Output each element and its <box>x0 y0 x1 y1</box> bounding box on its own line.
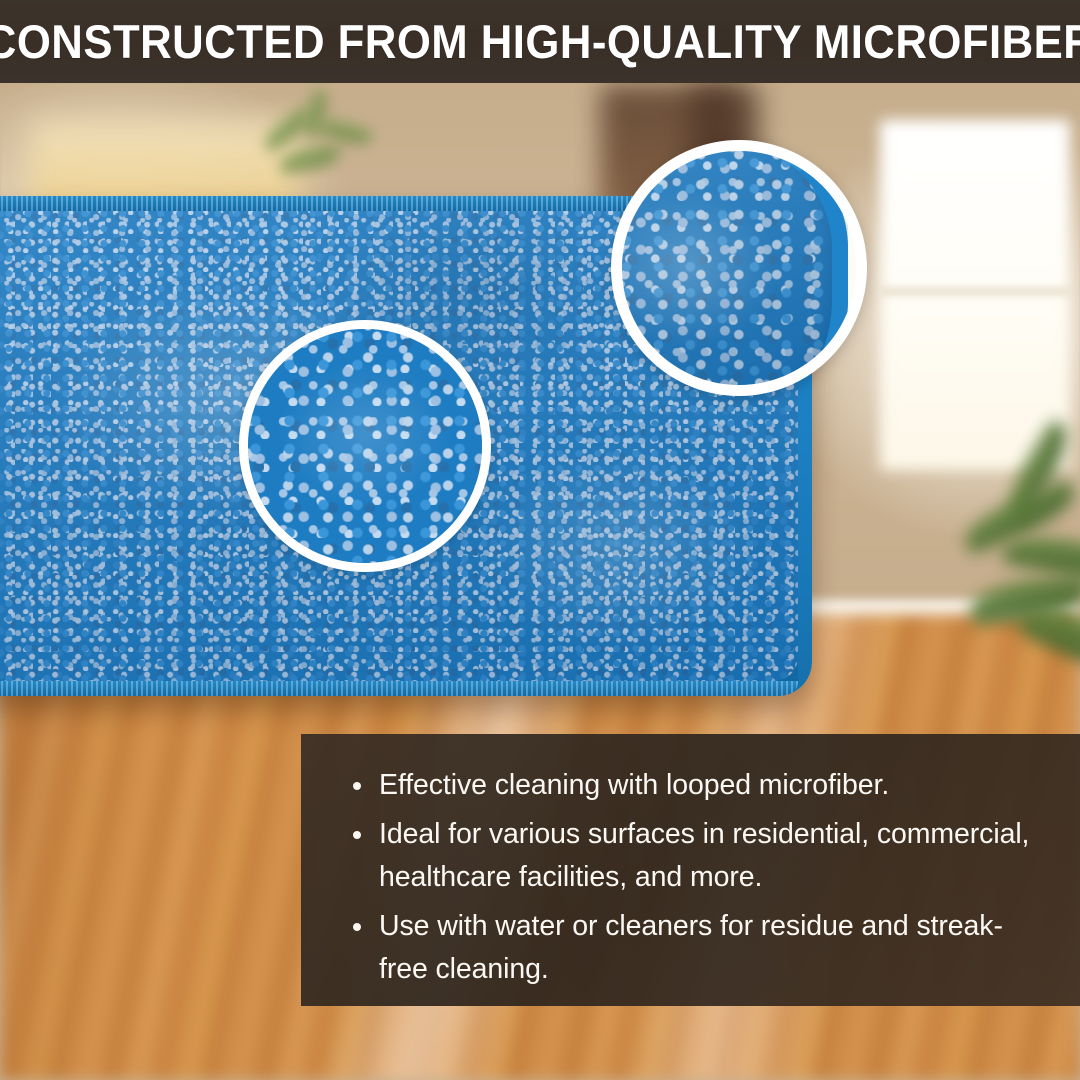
list-item: Effective cleaning with looped microfibe… <box>353 764 1046 807</box>
texture-closeup-content <box>248 329 482 563</box>
right-window <box>880 120 1070 470</box>
stitched-edge-bottom <box>0 681 798 696</box>
texture-closeup-shading <box>248 329 482 563</box>
background-plant-left <box>250 90 380 200</box>
list-item: Use with water or cleaners for residue a… <box>353 905 1046 991</box>
list-item: Ideal for various surfaces in residentia… <box>353 813 1046 899</box>
feature-bullet-list: Effective cleaning with looped microfibe… <box>353 764 1046 991</box>
corner-closeup-binding-edge <box>611 140 848 396</box>
background-plant-right <box>960 430 1080 700</box>
feature-bullets-panel: Effective cleaning with looped microfibe… <box>301 734 1080 1006</box>
window-mullion <box>880 288 1070 295</box>
product-feature-infographic: CONSTRUCTED FROM HIGH-QUALITY MICROFIBER… <box>0 0 1080 1080</box>
texture-closeup-circle <box>239 320 491 572</box>
header-bar: CONSTRUCTED FROM HIGH-QUALITY MICROFIBER <box>0 0 1080 83</box>
corner-closeup-circle <box>611 140 867 396</box>
page-title: CONSTRUCTED FROM HIGH-QUALITY MICROFIBER <box>0 18 1080 65</box>
